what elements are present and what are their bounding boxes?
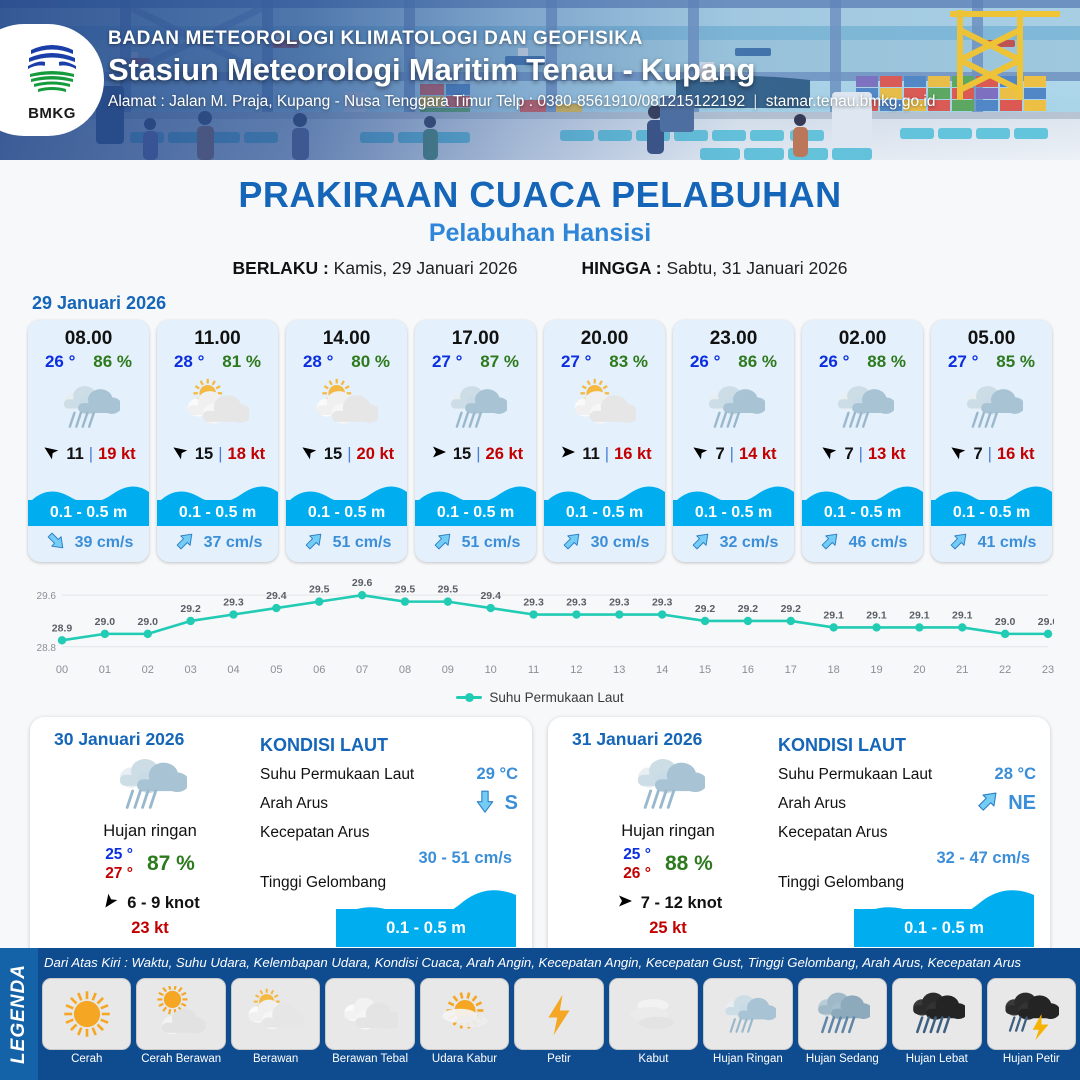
valid-until-value: Sabtu, 31 Januari 2026 (666, 258, 847, 278)
panel-current-dir-row: Arah Arus NE (778, 789, 1036, 818)
card-gust: 16 kt (997, 445, 1035, 464)
panel-sst-value: 29 °C (477, 765, 518, 784)
card-wave-height: 0.1 - 0.5 m (953, 504, 1030, 522)
wind-direction-arrow-icon (690, 442, 710, 467)
card-gust: 14 kt (739, 445, 777, 464)
legend-icon-cerah-icon (42, 978, 131, 1050)
chart-xtick: 00 (56, 664, 68, 676)
svg-text:28.9: 28.9 (52, 622, 73, 634)
card-gust: 20 kt (357, 445, 395, 464)
card-temp-hum: 28 ° 80 % (286, 350, 407, 372)
card-gust: 26 kt (486, 445, 524, 464)
panel-current-dir-value: NE (1008, 792, 1036, 815)
daily-forecast-panel: 31 Januari 2026 Hujan ringan 25 ° 26 ° 8… (548, 717, 1050, 965)
card-wind: 11 | 19 kt (28, 441, 149, 467)
svg-text:29.1: 29.1 (952, 609, 973, 621)
card-temperature: 26 ° (690, 352, 720, 372)
legend-icon-cerah-berawan-icon (136, 978, 225, 1050)
panel-sea-heading: KONDISI LAUT (260, 735, 518, 756)
panel-left: 30 Januari 2026 Hujan ringan 25 ° 27 ° 8… (44, 729, 256, 953)
chart-xtick: 12 (570, 664, 582, 676)
panel-right: KONDISI LAUT Suhu Permukaan Laut 28 °C A… (774, 729, 1036, 953)
panel-temp-range: 25 ° 26 ° (623, 845, 651, 884)
panel-right: KONDISI LAUT Suhu Permukaan Laut 29 °C A… (256, 729, 518, 953)
chart-legend-marker (456, 696, 482, 699)
card-wind-speed: 7 (844, 445, 853, 464)
chart-xtick: 09 (442, 664, 454, 676)
card-temperature: 26 ° (819, 352, 849, 372)
card-wind-sep: | (218, 445, 222, 464)
svg-text:29.3: 29.3 (523, 597, 544, 609)
sst-chart-section: 29.628.828.929.029.029.229.329.429.529.6… (0, 562, 1080, 705)
legend-note: Dari Atas Kiri : Waktu, Suhu Udara, Kele… (44, 955, 1076, 970)
chart-xtick: 03 (184, 664, 196, 676)
forecast-card: 02.00 26 ° 88 % 7 | 13 kt 0.1 - 0.5 m (802, 320, 923, 562)
card-wind-sep: | (476, 445, 480, 464)
card-humidity: 88 % (867, 352, 906, 372)
card-wave-height: 0.1 - 0.5 m (179, 504, 256, 522)
panel-wave-box: 0.1 - 0.5 m (336, 885, 516, 947)
card-gust: 16 kt (614, 445, 652, 464)
card-wind-speed: 7 (715, 445, 724, 464)
card-temp-hum: 26 ° 88 % (802, 350, 923, 372)
wind-direction-arrow-icon (557, 442, 577, 467)
svg-text:29.3: 29.3 (609, 597, 630, 609)
panel-temp-range: 25 ° 27 ° (105, 845, 133, 884)
legend-side-text: LEGENDA (8, 964, 30, 1064)
forecast-card: 17.00 27 ° 87 % 15 | 26 kt 0.1 - 0.5 m (415, 320, 536, 562)
card-wind: 15 | 18 kt (157, 441, 278, 467)
legend-item-label: Hujan Lebat (892, 1053, 981, 1065)
legend-item-label: Hujan Sedang (798, 1053, 887, 1065)
card-wave-zone: 0.1 - 0.5 m 51 cm/s (286, 478, 407, 562)
panel-sst-label: Suhu Permukaan Laut (260, 766, 477, 784)
legend-items: Cerah Cerah Berawan Berawan Berawan Teba… (42, 978, 1076, 1065)
card-current-speed: 32 cm/s (720, 534, 779, 552)
svg-text:29.4: 29.4 (480, 590, 501, 602)
card-current-speed: 51 cm/s (462, 534, 521, 552)
card-time: 08.00 (28, 320, 149, 350)
legend-item: Berawan (231, 978, 320, 1065)
chart-xtick: 01 (99, 664, 111, 676)
card-wind: 7 | 16 kt (931, 441, 1052, 467)
card-wind-speed: 7 (973, 445, 982, 464)
panel-current-dir-label: Arah Arus (260, 795, 471, 813)
panel-gust: 23 kt (44, 919, 256, 938)
card-wave-zone: 0.1 - 0.5 m 46 cm/s (802, 478, 923, 562)
card-current: 30 cm/s (544, 528, 665, 558)
svg-text:29.5: 29.5 (395, 584, 416, 596)
card-wave-band: 0.1 - 0.5 m (286, 500, 407, 526)
card-wave-zone: 0.1 - 0.5 m 39 cm/s (28, 478, 149, 562)
card-current: 41 cm/s (931, 528, 1052, 558)
card-humidity: 80 % (351, 352, 390, 372)
card-wind-speed: 15 (195, 445, 213, 464)
wind-direction-arrow-icon (428, 442, 448, 467)
card-time: 23.00 (673, 320, 794, 350)
panel-current-speed-value: 32 - 47 cm/s (778, 849, 1030, 868)
svg-text:29.5: 29.5 (309, 584, 330, 596)
svg-text:29.5: 29.5 (438, 584, 459, 596)
address-separator: | (749, 93, 761, 110)
panel-gust: 25 kt (562, 919, 774, 938)
title-section: PRAKIRAAN CUACA PELABUHAN Pelabuhan Hans… (0, 160, 1080, 279)
card-wind-speed: 11 (582, 445, 599, 464)
valid-until-label: HINGGA : (582, 258, 662, 278)
card-temperature: 28 ° (303, 352, 333, 372)
panel-sea-heading: KONDISI LAUT (778, 735, 1036, 756)
card-wave-band: 0.1 - 0.5 m (802, 500, 923, 526)
legend-icon-berawan-icon (231, 978, 320, 1050)
card-current-speed: 46 cm/s (849, 534, 908, 552)
panel-wave-box: 0.1 - 0.5 m (854, 885, 1034, 947)
chart-xtick: 04 (227, 664, 239, 676)
valid-until: HINGGA : Sabtu, 31 Januari 2026 (582, 258, 848, 279)
chart-xtick: 18 (828, 664, 840, 676)
panel-current-speed-label: Kecepatan Arus (260, 824, 518, 842)
wind-direction-arrow-icon (170, 442, 190, 467)
chart-xtick: 08 (399, 664, 411, 676)
legend-item-label: Hujan Petir (987, 1053, 1076, 1065)
panel-temp-max: 27 ° (105, 864, 133, 883)
panel-sst-label: Suhu Permukaan Laut (778, 766, 995, 784)
panel-sst-value: 28 °C (995, 765, 1036, 784)
card-current: 46 cm/s (802, 528, 923, 558)
hourly-forecast-cards: 08.00 26 ° 86 % 11 | 19 kt 0.1 - 0.5 m (0, 320, 1080, 562)
wind-direction-arrow-icon (41, 442, 61, 467)
panel-wind-range: 6 - 9 knot (127, 894, 199, 913)
panel-wind-arrow-icon (100, 891, 120, 916)
card-humidity: 81 % (222, 352, 261, 372)
chart-xtick: 22 (999, 664, 1011, 676)
card-weather-hujan-ringan-icon (673, 373, 794, 441)
svg-text:29.3: 29.3 (223, 597, 244, 609)
card-temperature: 27 ° (432, 352, 462, 372)
station-name: Stasiun Meteorologi Maritim Tenau - Kupa… (108, 52, 935, 88)
legend-item: Berawan Tebal (325, 978, 414, 1065)
panel-sst-row: Suhu Permukaan Laut 29 °C (260, 760, 518, 789)
legend-bar: LEGENDA Dari Atas Kiri : Waktu, Suhu Uda… (0, 948, 1080, 1080)
card-weather-berawan-icon (157, 373, 278, 441)
card-wind-sep: | (988, 445, 992, 464)
forecast-card: 14.00 28 ° 80 % 15 | 20 kt 0.1 - 0.5 m (286, 320, 407, 562)
card-current-speed: 39 cm/s (75, 534, 134, 552)
station-address: Alamat : Jalan M. Praja, Kupang - Nusa T… (108, 93, 935, 111)
panel-wind: 7 - 12 knot (562, 891, 774, 916)
panel-current-speed-label: Kecepatan Arus (778, 824, 1036, 842)
panel-current-speed-value: 30 - 51 cm/s (260, 849, 512, 868)
card-wind-speed: 15 (324, 445, 342, 464)
panel-weather-hujan-ringan-icon (44, 748, 256, 820)
legend-item-label: Kabut (609, 1053, 698, 1065)
sst-chart-svg: 29.628.828.929.029.029.229.329.429.529.6… (26, 572, 1054, 664)
panel-wind: 6 - 9 knot (44, 891, 256, 916)
card-temp-hum: 26 ° 86 % (28, 350, 149, 372)
svg-text:29.2: 29.2 (738, 603, 759, 615)
card-wind: 7 | 13 kt (802, 441, 923, 467)
chart-xtick: 07 (356, 664, 368, 676)
card-wave-band: 0.1 - 0.5 m (415, 500, 536, 526)
panel-temps: 25 ° 27 ° 87 % (44, 845, 256, 884)
chart-xtick: 23 (1042, 664, 1054, 676)
legend-icon-hujan-sedang-icon (798, 978, 887, 1050)
chart-xtick: 21 (956, 664, 968, 676)
panel-weather-hujan-ringan-icon (562, 748, 774, 820)
chart-xtick: 17 (785, 664, 797, 676)
card-temp-hum: 26 ° 86 % (673, 350, 794, 372)
panel-condition: Hujan ringan (562, 822, 774, 841)
svg-text:29.6: 29.6 (352, 577, 373, 589)
card-wind-sep: | (859, 445, 863, 464)
legend-icon-udara-kabur-icon (420, 978, 509, 1050)
chart-xtick: 13 (613, 664, 625, 676)
card-wave-zone: 0.1 - 0.5 m 32 cm/s (673, 478, 794, 562)
svg-text:29.6: 29.6 (37, 591, 57, 602)
panel-current-speed-row: Kecepatan Arus (260, 818, 518, 847)
legend-icon-kabut-icon (609, 978, 698, 1050)
panel-temps: 25 ° 26 ° 88 % (562, 845, 774, 884)
page-header: BMKG BADAN METEOROLOGI KLIMATOLOGI DAN G… (0, 0, 1080, 160)
card-wind-speed: 15 (453, 445, 471, 464)
card-current-speed: 41 cm/s (978, 534, 1037, 552)
panel-wave-value: 0.1 - 0.5 m (904, 919, 984, 938)
card-gust: 13 kt (868, 445, 906, 464)
card-time: 17.00 (415, 320, 536, 350)
card-weather-berawan-icon (286, 373, 407, 441)
svg-text:29.3: 29.3 (566, 597, 587, 609)
address-text: Alamat : Jalan M. Praja, Kupang - Nusa T… (108, 93, 745, 110)
card-wind-sep: | (730, 445, 734, 464)
legend-item: Cerah Berawan (136, 978, 225, 1065)
bmkg-logo-text: BMKG (16, 105, 88, 122)
current-direction-arrow-icon (560, 529, 584, 558)
legend-item: Hujan Ringan (703, 978, 792, 1065)
current-direction-arrow-icon (689, 529, 713, 558)
validity-range: BERLAKU : Kamis, 29 Januari 2026 HINGGA … (0, 258, 1080, 279)
chart-xtick: 06 (313, 664, 325, 676)
card-temperature: 27 ° (561, 352, 591, 372)
forecast-card: 23.00 26 ° 86 % 7 | 14 kt 0.1 - 0.5 m (673, 320, 794, 562)
card-wind-speed: 11 (66, 445, 83, 464)
card-wave-height: 0.1 - 0.5 m (308, 504, 385, 522)
card-temp-hum: 28 ° 81 % (157, 350, 278, 372)
legend-item: Hujan Petir (987, 978, 1076, 1065)
legend-icon-berawan-tebal-icon (325, 978, 414, 1050)
legend-item: Cerah (42, 978, 131, 1065)
card-temperature: 26 ° (45, 352, 75, 372)
chart-xtick: 20 (913, 664, 925, 676)
wind-direction-arrow-icon (819, 442, 839, 467)
panel-wave-band: 0.1 - 0.5 m (854, 909, 1034, 947)
card-wave-height: 0.1 - 0.5 m (695, 504, 772, 522)
current-direction-arrow-icon (44, 529, 68, 558)
chart-legend: Suhu Permukaan Laut (26, 690, 1054, 705)
panel-wind-arrow-icon (614, 891, 634, 916)
card-current: 51 cm/s (415, 528, 536, 558)
panel-current-dir-row: Arah Arus S (260, 789, 518, 818)
card-humidity: 85 % (996, 352, 1035, 372)
card-wind-sep: | (605, 445, 609, 464)
sst-chart-xaxis: 0001020304050607080910111213141516171819… (26, 664, 1054, 684)
card-humidity: 86 % (738, 352, 777, 372)
card-wave-height: 0.1 - 0.5 m (566, 504, 643, 522)
card-current-speed: 30 cm/s (591, 534, 650, 552)
card-wave-zone: 0.1 - 0.5 m 41 cm/s (931, 478, 1052, 562)
legend-icon-hujan-ringan-icon (703, 978, 792, 1050)
card-wind-sep: | (89, 445, 93, 464)
card-wave-height: 0.1 - 0.5 m (437, 504, 514, 522)
panel-condition: Hujan ringan (44, 822, 256, 841)
panel-wave-value: 0.1 - 0.5 m (386, 919, 466, 938)
forecast-card: 11.00 28 ° 81 % 15 | 18 kt 0.1 - 0.5 m (157, 320, 278, 562)
card-time: 05.00 (931, 320, 1052, 350)
legend-item-label: Petir (514, 1053, 603, 1065)
card-temp-hum: 27 ° 87 % (415, 350, 536, 372)
panel-current-arrow-icon (974, 787, 1002, 820)
card-humidity: 83 % (609, 352, 648, 372)
page-title: PRAKIRAAN CUACA PELABUHAN (0, 174, 1080, 216)
svg-text:29.1: 29.1 (866, 609, 887, 621)
valid-from: BERLAKU : Kamis, 29 Januari 2026 (233, 258, 518, 279)
valid-from-value: Kamis, 29 Januari 2026 (334, 258, 518, 278)
agency-name: BADAN METEOROLOGI KLIMATOLOGI DAN GEOFIS… (108, 28, 935, 50)
panel-current-dir-box: NE (974, 787, 1036, 820)
legend-side-label: LEGENDA (0, 948, 38, 1080)
card-temperature: 27 ° (948, 352, 978, 372)
forecast-card: 08.00 26 ° 86 % 11 | 19 kt 0.1 - 0.5 m (28, 320, 149, 562)
svg-text:29.2: 29.2 (695, 603, 716, 615)
svg-text:29.0: 29.0 (995, 616, 1016, 628)
panel-left: 31 Januari 2026 Hujan ringan 25 ° 26 ° 8… (562, 729, 774, 953)
card-time: 02.00 (802, 320, 923, 350)
chart-xtick: 11 (528, 664, 539, 676)
legend-item: Udara Kabur (420, 978, 509, 1065)
legend-icon-petir-icon (514, 978, 603, 1050)
card-wave-zone: 0.1 - 0.5 m 30 cm/s (544, 478, 665, 562)
legend-item: Hujan Sedang (798, 978, 887, 1065)
port-name: Pelabuhan Hansisi (0, 219, 1080, 248)
card-temp-hum: 27 ° 83 % (544, 350, 665, 372)
card-gust: 19 kt (98, 445, 136, 464)
panel-humidity: 88 % (665, 852, 713, 876)
legend-icon-hujan-petir-icon (987, 978, 1076, 1050)
card-wave-band: 0.1 - 0.5 m (28, 500, 149, 526)
legend-item-label: Cerah Berawan (136, 1053, 225, 1065)
card-time: 14.00 (286, 320, 407, 350)
card-wave-height: 0.1 - 0.5 m (824, 504, 901, 522)
panel-current-dir-value: S (505, 792, 518, 815)
svg-text:29.4: 29.4 (266, 590, 287, 602)
legend-item-label: Berawan (231, 1053, 320, 1065)
card-current: 51 cm/s (286, 528, 407, 558)
sst-chart: 29.628.828.929.029.029.229.329.429.529.6… (26, 572, 1054, 664)
svg-text:29.0: 29.0 (95, 616, 116, 628)
card-current: 39 cm/s (28, 528, 149, 558)
legend-icon-hujan-lebat-icon (892, 978, 981, 1050)
card-temperature: 28 ° (174, 352, 204, 372)
svg-text:29.1: 29.1 (823, 609, 844, 621)
chart-xtick: 14 (656, 664, 668, 676)
valid-from-label: BERLAKU : (233, 258, 329, 278)
legend-item-label: Udara Kabur (420, 1053, 509, 1065)
current-direction-arrow-icon (431, 529, 455, 558)
panel-wave-band: 0.1 - 0.5 m (336, 909, 516, 947)
card-time: 20.00 (544, 320, 665, 350)
svg-text:28.8: 28.8 (37, 643, 57, 654)
day1-date: 29 Januari 2026 (32, 293, 1080, 314)
card-wind: 15 | 20 kt (286, 441, 407, 467)
daily-forecast-panels: 30 Januari 2026 Hujan ringan 25 ° 27 ° 8… (0, 705, 1080, 965)
svg-text:29.1: 29.1 (909, 609, 930, 621)
legend-item-label: Berawan Tebal (325, 1053, 414, 1065)
bmkg-emblem-icon (21, 38, 83, 102)
card-wave-zone: 0.1 - 0.5 m 37 cm/s (157, 478, 278, 562)
card-current: 32 cm/s (673, 528, 794, 558)
card-weather-hujan-ringan-icon (28, 373, 149, 441)
wind-direction-arrow-icon (299, 442, 319, 467)
card-humidity: 86 % (93, 352, 132, 372)
current-direction-arrow-icon (818, 529, 842, 558)
card-weather-berawan-icon (544, 373, 665, 441)
card-gust: 18 kt (228, 445, 266, 464)
svg-text:29.0: 29.0 (138, 616, 159, 628)
legend-item: Hujan Lebat (892, 978, 981, 1065)
panel-wind-range: 7 - 12 knot (641, 894, 723, 913)
current-direction-arrow-icon (947, 529, 971, 558)
card-wave-band: 0.1 - 0.5 m (673, 500, 794, 526)
panel-current-arrow-icon (471, 787, 499, 820)
chart-xtick: 15 (699, 664, 711, 676)
card-wind-sep: | (347, 445, 351, 464)
panel-current-dir-box: S (471, 787, 518, 820)
chart-legend-label: Suhu Permukaan Laut (489, 690, 623, 705)
card-temp-hum: 27 ° 85 % (931, 350, 1052, 372)
forecast-card: 05.00 27 ° 85 % 7 | 16 kt 0.1 - 0.5 m (931, 320, 1052, 562)
panel-current-dir-label: Arah Arus (778, 795, 974, 813)
legend-item: Petir (514, 978, 603, 1065)
card-weather-hujan-ringan-icon (802, 373, 923, 441)
card-current-speed: 37 cm/s (204, 534, 263, 552)
svg-text:29.2: 29.2 (180, 603, 201, 615)
legend-item: Kabut (609, 978, 698, 1065)
panel-humidity: 87 % (147, 852, 195, 876)
panel-temp-min: 25 ° (623, 845, 651, 864)
card-current: 37 cm/s (157, 528, 278, 558)
chart-xtick: 16 (742, 664, 754, 676)
panel-temp-max: 26 ° (623, 864, 651, 883)
website-url: stamar.tenau.bmkg.go.id (766, 93, 936, 110)
card-humidity: 87 % (480, 352, 519, 372)
daily-forecast-panel: 30 Januari 2026 Hujan ringan 25 ° 27 ° 8… (30, 717, 532, 965)
current-direction-arrow-icon (173, 529, 197, 558)
legend-item-label: Hujan Ringan (703, 1053, 792, 1065)
forecast-card: 20.00 27 ° 83 % 11 | 16 kt 0.1 - 0.5 m (544, 320, 665, 562)
card-wind: 15 | 26 kt (415, 441, 536, 467)
card-time: 11.00 (157, 320, 278, 350)
chart-xtick: 02 (142, 664, 154, 676)
panel-current-speed-row: Kecepatan Arus (778, 818, 1036, 847)
current-direction-arrow-icon (302, 529, 326, 558)
wind-direction-arrow-icon (948, 442, 968, 467)
chart-xtick: 19 (870, 664, 882, 676)
chart-xtick: 05 (270, 664, 282, 676)
card-wind: 7 | 14 kt (673, 441, 794, 467)
legend-item-label: Cerah (42, 1053, 131, 1065)
card-wave-band: 0.1 - 0.5 m (931, 500, 1052, 526)
svg-text:29.2: 29.2 (781, 603, 802, 615)
card-wave-band: 0.1 - 0.5 m (544, 500, 665, 526)
svg-text:29.0: 29.0 (1038, 616, 1054, 628)
